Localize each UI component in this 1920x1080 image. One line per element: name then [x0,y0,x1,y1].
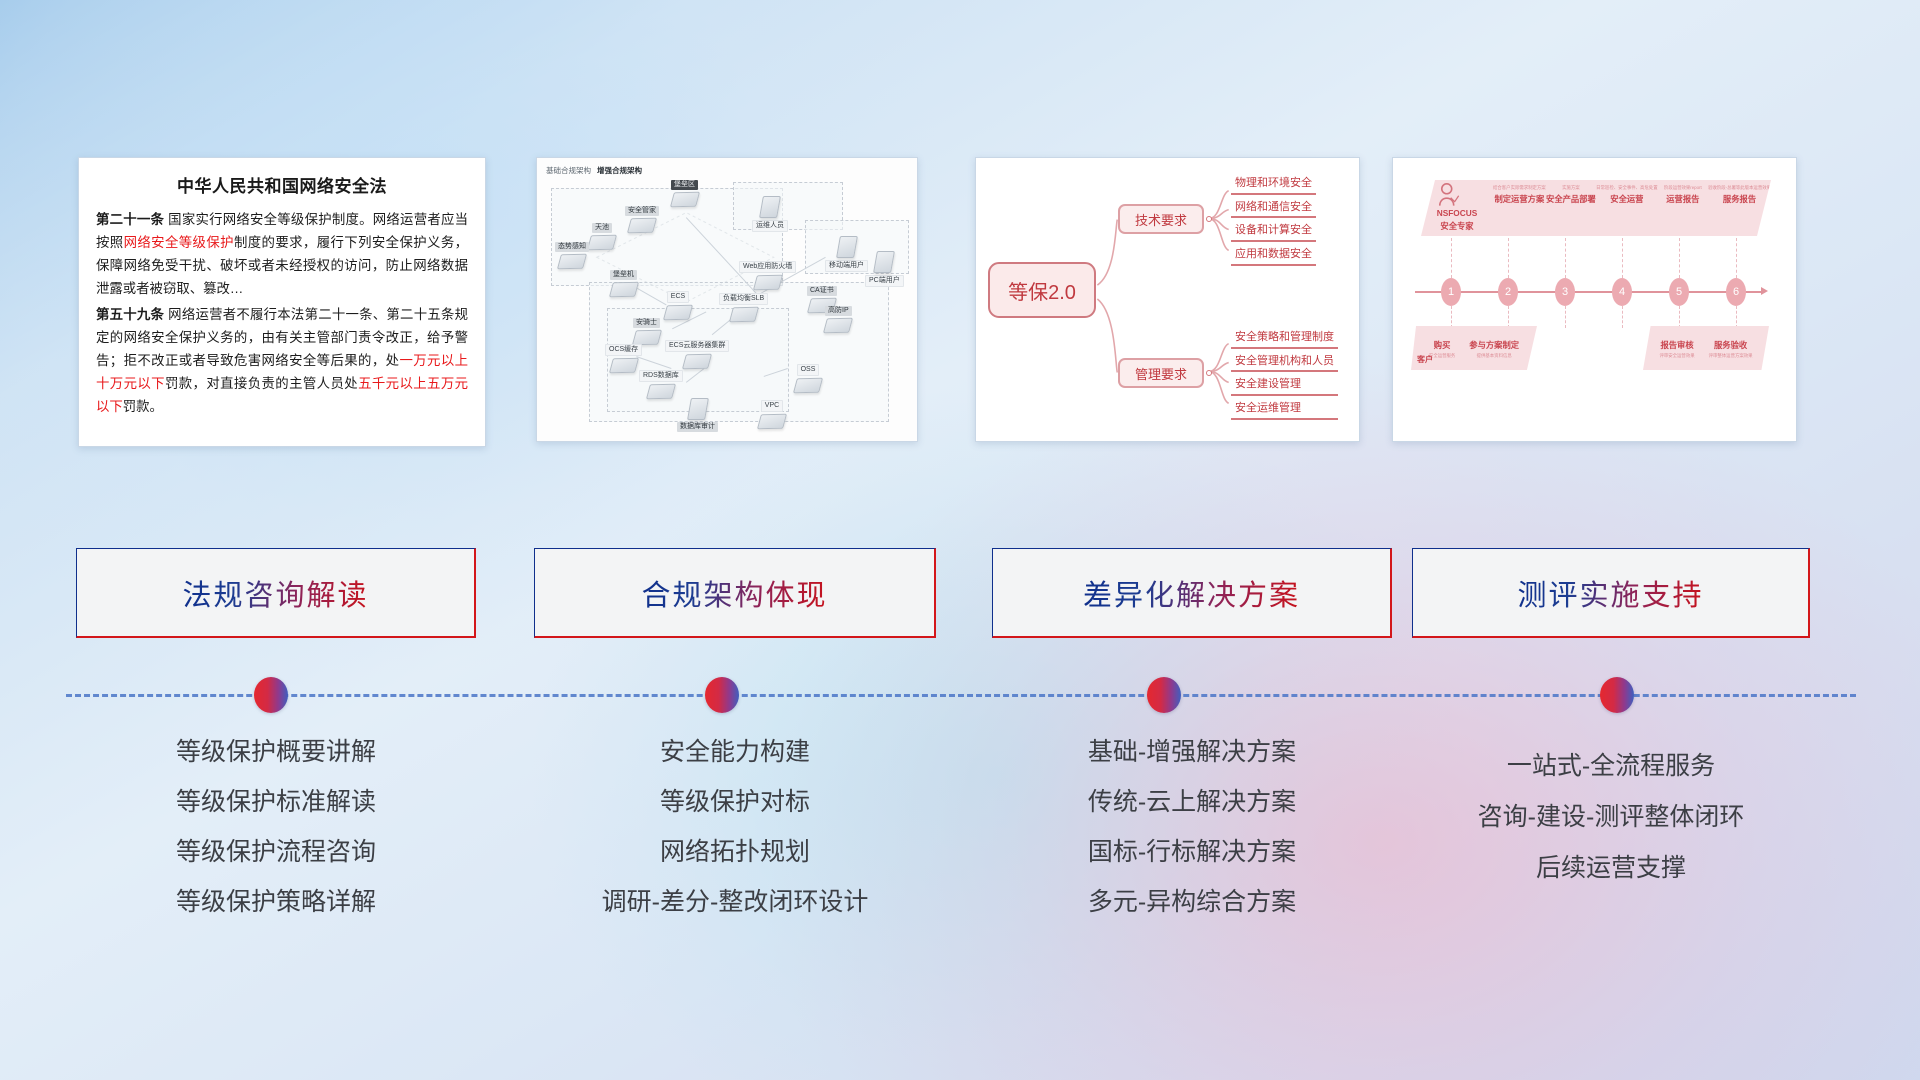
nsfocus-tick-lower [1508,306,1509,328]
feature-list-item: 一站式-全流程服务 [1412,754,1810,779]
law-paragraph: 第五十九条 网络运营者不履行本法第二十一条、第二十五条规定的网络安全保护义务的，… [96,303,468,418]
architecture-node-label: 态势感知 [555,242,589,252]
mindmap-core: 等保2.0 [988,262,1096,318]
mindmap-leaf: 安全建设管理 [1231,377,1338,396]
architecture-node-glyph [631,329,661,344]
feature-list-item: 后续运营支撑 [1412,856,1810,881]
nsfocus-number-1[interactable]: 1 [1441,278,1461,306]
mindmap-leaves-mgmt: 安全策略和管理制度安全管理机构和人员安全建设管理安全运维管理 [1231,330,1338,425]
architecture-node-glyph [627,217,657,232]
architecture-node: 安骑士 [633,318,660,345]
architecture-node-label: ECS云服务器集群 [665,340,729,352]
card-dengbao-mindmap[interactable]: 等保2.0 技术要求 管理要求 物理和环境安全网络和通信安全设备和计算安全应用和… [975,157,1360,442]
architecture-node: 堡垒机 [610,270,637,297]
mindmap-leaf: 安全策略和管理制度 [1231,330,1338,349]
section-title-label-2: 差异化解决方案 [1083,572,1300,614]
mindmap-branch-tech: 技术要求 [1118,204,1204,234]
architecture-node-label: 堡垒机 [610,270,637,280]
architecture-node-glyph [557,253,587,268]
cards-row: 中华人民共和国网络安全法 第二十一条 国家实行网络安全等级保护制度。网络运营者应… [0,152,1920,452]
card-cybersecurity-law[interactable]: 中华人民共和国网络安全法 第二十一条 国家实行网络安全等级保护制度。网络运营者应… [78,157,486,447]
nsfocus-tick [1451,238,1452,278]
architecture-node: 高防IP [825,306,852,333]
feature-list-item: 网络拓扑规划 [534,840,936,865]
architecture-node: OCS缓存 [605,344,642,373]
mindmap-leaf: 安全管理机构和人员 [1231,354,1338,373]
feature-list-2: 基础-增强解决方案传统-云上解决方案国标-行标解决方案多元-异构综合方案 [992,740,1392,940]
nsfocus-bottom-title: 参与方案制定 [1469,339,1519,351]
mindmap-leaf: 设备和计算安全 [1231,223,1316,242]
architecture-node-label: 运维人员 [752,220,788,232]
architecture-node: ECS [665,291,691,320]
feature-list-item: 咨询-建设-测评整体闭环 [1412,805,1810,830]
architecture-node-glyph [836,236,858,258]
timeline-dot-2[interactable] [1147,677,1181,713]
architecture-node-glyph [687,398,709,420]
architecture-node-label: 高防IP [825,306,852,316]
architecture-node-label: OCS缓存 [605,344,642,356]
law-text: 罚款，对直接负责的主管人员处 [165,376,358,391]
feature-list-item: 传统-云上解决方案 [992,790,1392,815]
architecture-node-glyph [608,281,638,296]
architecture-node-label: 安骑士 [633,318,660,328]
feature-list-item: 安全能力构建 [534,740,936,765]
feature-list-item: 等级保护策略详解 [76,890,476,915]
law-article-number: 第二十一条 [96,212,164,227]
nsfocus-tick-lower [1565,306,1566,328]
architecture-diagram: 基础合规架构增强合规架构 堡垒区安全管家天池态势感知运维 [537,158,917,441]
architecture-node-label: 堡垒区 [671,180,698,190]
feature-list-item: 等级保护概要讲解 [76,740,476,765]
mindmap-leaf: 物理和环境安全 [1231,176,1316,195]
section-titles-row: 法规咨询解读 合规架构体现 差异化解决方案 测评实施支持 [0,548,1920,640]
feature-list-0: 等级保护概要讲解等级保护标准解读等级保护流程咨询等级保护策略详解 [76,740,476,940]
mindmap-leaf: 安全运维管理 [1231,401,1338,420]
architecture-node-label: 天池 [592,223,612,233]
law-highlight-text: 网络安全等级保护 [124,235,234,250]
mindmap-branch-mgmt: 管理要求 [1118,358,1204,388]
architecture-node: 堡垒区 [671,180,698,207]
law-text: 罚款。 [123,399,163,414]
feature-list-item: 多元-异构综合方案 [992,890,1392,915]
architecture-node: 天池 [589,223,615,250]
nsfocus-tick [1736,238,1737,278]
law-paragraph: 第二十一条 国家实行网络安全等级保护制度。网络运营者应当按照网络安全等级保护制度… [96,208,468,300]
architecture-node-glyph [873,251,895,273]
mindmap-dot-mgmt [1206,370,1212,376]
section-title-box-2[interactable]: 差异化解决方案 [992,548,1392,638]
nsfocus-bottom-item: 参与方案制定提供基本资料信息 [1469,337,1519,359]
nsfocus-bottom-item: 服务验收评审整体运营方案效果 [1709,337,1753,359]
nsfocus-bottom-right-band: 报告审核评审安全运营效果服务验收评审整体运营方案效果 [1643,326,1769,370]
architecture-node-glyph [682,353,712,368]
nsfocus-tick [1508,238,1509,278]
architecture-node-glyph [669,191,699,206]
mindmap-dot-tech [1206,216,1212,222]
architecture-node-glyph [753,274,783,289]
card-compliance-architecture[interactable]: 基础合规架构增强合规架构 堡垒区安全管家天池态势感知运维 [536,157,918,442]
mindmap-leaf: 网络和通信安全 [1231,200,1316,219]
architecture-node-label: 安全管家 [625,206,659,216]
architecture-node-label: Web应用防火墙 [739,261,796,273]
architecture-node: PC端用户 [865,251,904,287]
architecture-node-glyph [823,317,853,332]
architecture-node: ECS云服务器集群 [665,340,729,369]
architecture-node-glyph [608,357,638,372]
architecture-node: 运维人员 [752,196,788,232]
timeline-dot-0[interactable] [254,677,288,713]
architecture-node-label: VPC [761,400,783,412]
architecture-node-glyph [759,196,781,218]
architecture-node: RDS数据库 [639,370,683,399]
nsfocus-tick [1679,238,1680,278]
nsfocus-tick-lower [1451,306,1452,328]
architecture-node-label: OSS [797,364,820,376]
architecture-node-label: 移动端用户 [825,260,868,272]
architecture-node: 安全管家 [625,206,659,233]
architecture-node: Web应用防火墙 [739,261,796,290]
feature-lists-row: 等级保护概要讲解等级保护标准解读等级保护流程咨询等级保护策略详解 安全能力构建等… [0,740,1920,960]
nsfocus-tick-lower [1622,306,1623,328]
mindmap: 等保2.0 技术要求 管理要求 物理和环境安全网络和通信安全设备和计算安全应用和… [976,158,1359,441]
architecture-node-label: PC端用户 [865,275,904,287]
section-title-box-3[interactable]: 测评实施支持 [1412,548,1810,638]
architecture-node: OSS [795,364,821,393]
timeline-dot-1[interactable] [705,677,739,713]
nsfocus-number-2[interactable]: 2 [1498,278,1518,306]
nsfocus-diagram: NSFOCUS 安全专家 结合客户实际需求制定方案制定运营方案实施方案安全产品部… [1393,158,1796,441]
feature-list-item: 调研-差分-整改闭环设计 [534,890,936,915]
architecture-node: 移动端用户 [825,236,868,272]
nsfocus-bottom-item: 报告审核评审安全运营效果 [1659,337,1694,359]
section-title-label-0: 法规咨询解读 [182,572,368,614]
mindmap-leaf: 应用和数据安全 [1231,247,1316,266]
architecture-node: 态势感知 [555,242,589,269]
law-article-number: 第五十九条 [96,307,164,322]
architecture-node-label: CA证书 [807,286,837,296]
section-title-label-3: 测评实施支持 [1517,572,1703,614]
section-title-label-1: 合规架构体现 [641,572,827,614]
nsfocus-axis [1415,291,1763,293]
law-body: 第二十一条 国家实行网络安全等级保护制度。网络运营者应当按照网络安全等级保护制度… [96,208,468,418]
architecture-node-label: 负载均衡SLB [719,293,768,305]
architecture-node-glyph [729,306,759,321]
nsfocus-bottom-title: 报告审核 [1659,339,1694,351]
law-title: 中华人民共和国网络安全法 [96,172,468,197]
feature-list-item: 等级保护标准解读 [76,790,476,815]
feature-list-item: 等级保护对标 [534,790,936,815]
card-nsfocus-timeline[interactable]: NSFOCUS 安全专家 结合客户实际需求制定方案制定运营方案实施方案安全产品部… [1392,157,1797,442]
architecture-node-glyph [663,304,693,319]
timeline-dot-3[interactable] [1600,677,1634,713]
architecture-node-glyph [646,383,676,398]
feature-list-item: 国标-行标解决方案 [992,840,1392,865]
nsfocus-bottom-title: 服务验收 [1709,339,1753,351]
nsfocus-bottom-sub: 评审安全运营效果 [1659,353,1694,359]
architecture-node: VPC [759,400,785,429]
architecture-node-label: 数据库审计 [677,422,718,432]
nsfocus-customer-label: 客户 [1417,354,1433,365]
section-title-box-0[interactable]: 法规咨询解读 [76,548,476,638]
nsfocus-bottom-sub: 评审整体运营方案效果 [1709,353,1753,359]
nsfocus-number-6[interactable]: 6 [1726,278,1746,306]
feature-list-item: 基础-增强解决方案 [992,740,1392,765]
nsfocus-tick [1622,238,1623,278]
timeline-dashed-line [66,694,1856,697]
feature-list-1: 安全能力构建等级保护对标网络拓扑规划调研-差分-整改闭环设计 [534,740,936,940]
nsfocus-number-3[interactable]: 3 [1555,278,1575,306]
architecture-node: 负载均衡SLB [719,293,768,322]
architecture-node: 数据库审计 [677,398,718,432]
architecture-node-glyph [757,413,787,428]
nsfocus-tick-lower [1679,306,1680,328]
architecture-node-label: RDS数据库 [639,370,683,382]
nsfocus-tick-lower [1736,306,1737,328]
nsfocus-axis-arrow [1761,287,1768,295]
nsfocus-number-4[interactable]: 4 [1612,278,1632,306]
nsfocus-bottom-title: 购买 [1429,339,1455,351]
architecture-node-glyph [793,377,823,392]
mindmap-leaves-tech: 物理和环境安全网络和通信安全设备和计算安全应用和数据安全 [1231,176,1316,271]
architecture-node-label: ECS [667,291,689,303]
nsfocus-bottom-sub: 提供基本资料信息 [1469,353,1519,359]
nsfocus-number-5[interactable]: 5 [1669,278,1689,306]
nsfocus-tick [1565,238,1566,278]
feature-list-item: 等级保护流程咨询 [76,840,476,865]
architecture-node-glyph [587,234,617,249]
section-title-box-1[interactable]: 合规架构体现 [534,548,936,638]
feature-list-3: 一站式-全流程服务咨询-建设-测评整体闭环后续运营支撑 [1412,754,1810,907]
